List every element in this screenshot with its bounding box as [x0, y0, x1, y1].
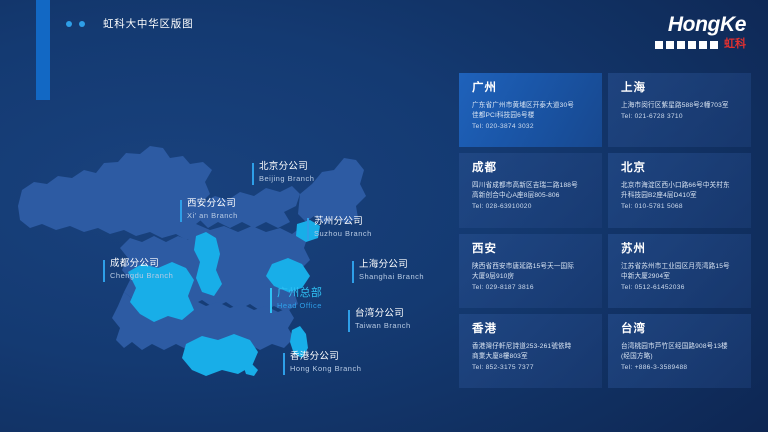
logo-square-icon	[699, 41, 707, 49]
office-card-chengdu[interactable]: 成都 四川省成都市高新区吉瑞二路188号 高新创合中心A座8层805-806 T…	[459, 153, 602, 227]
map-label-en: Hong Kong Branch	[290, 363, 361, 374]
slide-canvas: 虹科大中华区版图 HongKe 虹科	[0, 0, 768, 432]
map-label-en: Taiwan Branch	[355, 320, 411, 331]
province-xinjiang	[18, 146, 212, 240]
logo-square-icon	[677, 41, 685, 49]
office-city: 台湾	[621, 323, 740, 336]
map-label-cn: 广州总部	[277, 286, 322, 300]
logo-square-icon	[688, 41, 696, 49]
label-tick-icon	[252, 163, 254, 185]
office-address: 上海市闵行区紫星路588号2幢703室	[621, 101, 740, 111]
office-city: 广州	[472, 82, 591, 95]
logo-subrow: 虹科	[655, 39, 746, 50]
label-tick-icon	[352, 261, 354, 283]
map-label-hongkong[interactable]: 香港分公司 Hong Kong Branch	[283, 351, 361, 374]
office-city: 上海	[621, 82, 740, 95]
label-tick-icon	[180, 200, 182, 222]
logo-square-icon	[666, 41, 674, 49]
logo-square-icon	[710, 41, 718, 49]
map-label-en: Head Office	[277, 300, 322, 311]
header: 虹科大中华区版图	[66, 16, 193, 31]
office-card-suzhou[interactable]: 苏州 江苏省苏州市工业园区月亮湾路15号 中新大厦2904室 Tel: 0512…	[608, 234, 751, 308]
office-phone: Tel: 020-3874 3032	[472, 122, 591, 132]
map-label-cn: 苏州分公司	[314, 216, 372, 228]
label-tick-icon	[270, 288, 272, 313]
map-label-cn: 北京分公司	[259, 161, 314, 173]
office-city: 香港	[472, 323, 591, 336]
map-label-en: Chengdu Branch	[110, 270, 173, 281]
map-label-cn: 香港分公司	[290, 351, 361, 363]
bullet-dot-icon	[66, 21, 72, 27]
map-label-beijing[interactable]: 北京分公司 Beijing Branch	[252, 161, 314, 184]
map-label-cn: 成都分公司	[110, 258, 173, 270]
office-card-guangzhou[interactable]: 广州 广东省广州市黄埔区开泰大道30号 佳都PCI科技园6号楼 Tel: 020…	[459, 73, 602, 147]
office-card-grid: 广州 广东省广州市黄埔区开泰大道30号 佳都PCI科技园6号楼 Tel: 020…	[459, 73, 751, 388]
logo-square-icon	[655, 41, 663, 49]
map-label-suzhou[interactable]: 苏州分公司 Suzhou Branch	[307, 216, 372, 239]
office-city: 西安	[472, 243, 591, 256]
office-address: 香港灣仔軒尼詩道253-261號依時 商業大廈8樓803室	[472, 342, 591, 362]
office-phone: Tel: +886-3-3589488	[621, 363, 740, 373]
logo-chinese-name: 虹科	[724, 39, 746, 50]
map-label-cn: 西安分公司	[187, 198, 238, 210]
office-phone: Tel: 852-3175 7377	[472, 363, 591, 373]
office-card-xian[interactable]: 西安 陕西省西安市唐延路15号天一国际 大厦9层910房 Tel: 029-81…	[459, 234, 602, 308]
office-address: 广东省广州市黄埔区开泰大道30号 佳都PCI科技园6号楼	[472, 101, 591, 121]
map-label-en: Suzhou Branch	[314, 228, 372, 239]
office-address: 北京市海淀区西小口路66号中关村东 升科技园B2座4层D410室	[621, 181, 740, 201]
office-card-beijing[interactable]: 北京 北京市海淀区西小口路66号中关村东 升科技园B2座4层D410室 Tel:…	[608, 153, 751, 227]
office-city: 苏州	[621, 243, 740, 256]
map-label-taiwan[interactable]: 台湾分公司 Taiwan Branch	[348, 308, 411, 331]
map-label-en: Xi′ an Branch	[187, 210, 238, 221]
office-address: 陕西省西安市唐延路15号天一国际 大厦9层910房	[472, 262, 591, 282]
map-label-cn: 台湾分公司	[355, 308, 411, 320]
brand-logo: HongKe 虹科	[655, 14, 746, 50]
office-address: 台湾桃园市芦竹区经国路908号13楼 (经国方略)	[621, 342, 740, 362]
map-label-xian[interactable]: 西安分公司 Xi′ an Branch	[180, 198, 238, 221]
office-phone: Tel: 029-8187 3816	[472, 283, 591, 293]
office-phone: Tel: 021-6728 3710	[621, 112, 740, 122]
label-tick-icon	[307, 218, 309, 240]
office-address: 四川省成都市高新区吉瑞二路188号 高新创合中心A座8层805-806	[472, 181, 591, 201]
map-label-chengdu[interactable]: 成都分公司 Chengdu Branch	[103, 258, 173, 281]
logo-wordmark: HongKe	[655, 14, 746, 35]
map-label-en: Shanghai Branch	[359, 271, 424, 282]
office-city: 成都	[472, 162, 591, 175]
bullet-dot-icon	[79, 21, 85, 27]
office-phone: Tel: 010-5781 5068	[621, 202, 740, 212]
office-card-shanghai[interactable]: 上海 上海市闵行区紫星路588号2幢703室 Tel: 021-6728 371…	[608, 73, 751, 147]
map-label-en: Beijing Branch	[259, 173, 314, 184]
label-tick-icon	[348, 310, 350, 332]
office-city: 北京	[621, 162, 740, 175]
china-map: 北京分公司 Beijing Branch 西安分公司 Xi′ an Branch…	[0, 58, 452, 432]
label-tick-icon	[103, 260, 105, 282]
map-label-cn: 上海分公司	[359, 259, 424, 271]
china-map-svg	[0, 58, 452, 432]
map-label-shanghai[interactable]: 上海分公司 Shanghai Branch	[352, 259, 424, 282]
label-tick-icon	[283, 353, 285, 375]
office-phone: Tel: 028-63910020	[472, 202, 591, 212]
office-card-taiwan[interactable]: 台湾 台湾桃园市芦竹区经国路908号13楼 (经国方略) Tel: +886-3…	[608, 314, 751, 388]
office-phone: Tel: 0512-61452036	[621, 283, 740, 293]
office-address: 江苏省苏州市工业园区月亮湾路15号 中新大厦2904室	[621, 262, 740, 282]
map-label-head-office[interactable]: 广州总部 Head Office	[270, 286, 322, 311]
page-title: 虹科大中华区版图	[103, 16, 193, 31]
office-card-hongkong[interactable]: 香港 香港灣仔軒尼詩道253-261號依時 商業大廈8樓803室 Tel: 85…	[459, 314, 602, 388]
